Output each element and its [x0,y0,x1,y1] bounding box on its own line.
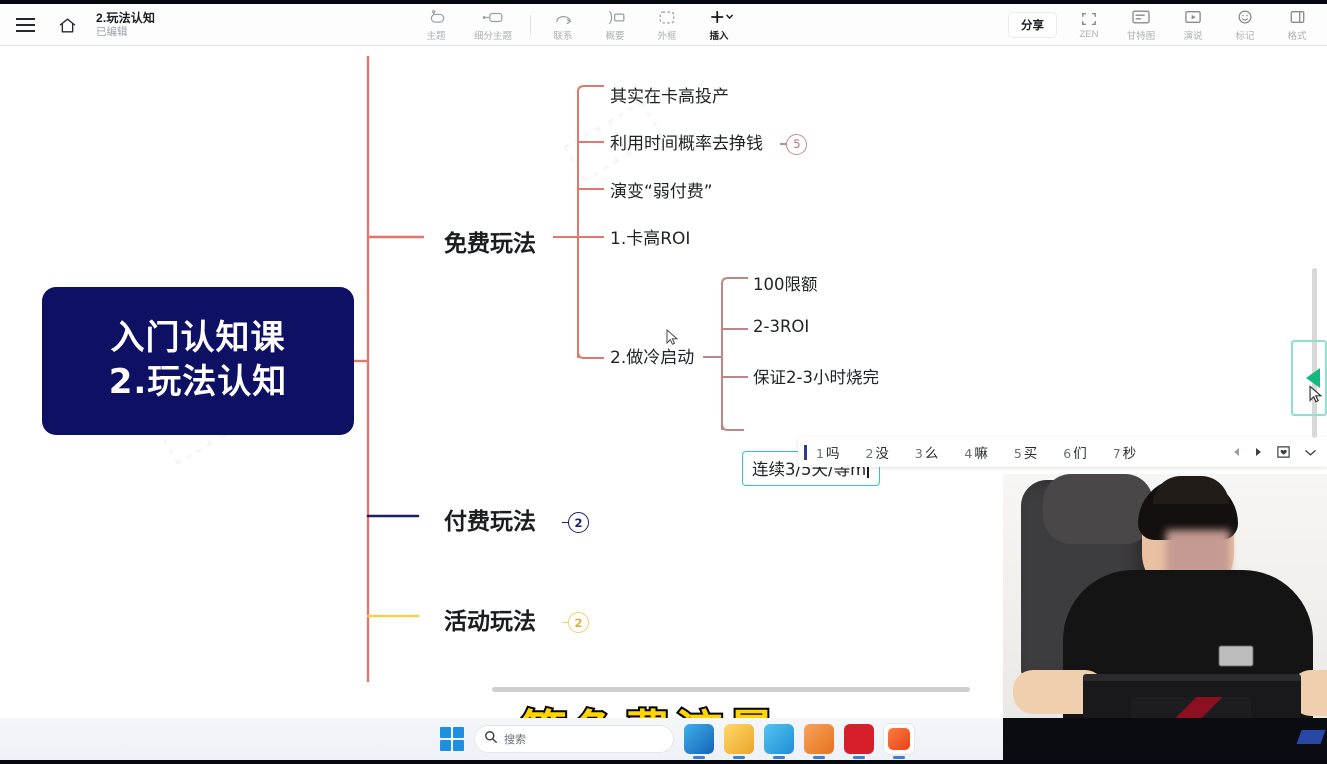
taskbar-app-office[interactable] [804,724,834,754]
node-cold-start[interactable]: 2.做冷启动 [610,343,694,368]
candidate-index: 3 [915,446,923,461]
toolbar-item-boundary[interactable]: 外框 [641,4,693,46]
toolbar-label: 甘特图 [1127,28,1156,42]
toolbar-right-group: 分享 ZEN 甘特图 [1008,4,1323,46]
heart-icon[interactable] [1276,445,1291,459]
ime-candidate-bar[interactable]: 1吗 2没 3么 4嘛 5买 6们 7秒 [798,437,1327,467]
taskbar-app-explorer[interactable] [724,724,754,754]
branch-paid-play[interactable]: 付费玩法 2 [444,502,589,536]
candidate-index: 7 [1113,446,1121,461]
candidate-index: 2 [865,446,873,461]
node-burn-2-3-hours[interactable]: 保证2-3小时烧完 [753,364,879,388]
root-line-2: 2.玩法认知 [109,361,288,405]
ime-controls [1232,445,1327,459]
share-button[interactable]: 分享 [1008,12,1057,38]
hamburger-icon[interactable] [8,4,42,46]
page-title: 2.玩法认知 [96,12,155,25]
taskbar-blue-accent [1296,730,1325,744]
boundary-icon [657,9,677,26]
gantt-chart-icon [1131,9,1151,26]
home-icon[interactable] [52,4,82,46]
node-label: 1.卡高ROI [610,229,690,249]
ime-candidate[interactable]: 4嘛 [964,442,987,462]
screen: 2.玩法认知 已编辑 主题 细分 [0,0,1327,764]
toolbar-item-topic[interactable]: 主题 [410,4,462,46]
toolbar-label: 概要 [605,28,624,42]
horizontal-scrollbar[interactable] [492,687,970,692]
toolbar-label: 格式 [1287,28,1306,42]
toolbar-item-gantt[interactable]: 甘特图 [1115,4,1167,46]
toolbar-item-relation[interactable]: 联系 [537,4,589,46]
node-high-roi[interactable]: 1.卡高ROI [610,224,690,249]
node-roi-2-3[interactable]: 2-3ROI [753,317,809,336]
insert-plus-icon [704,9,734,26]
node-label: 保证2-3小时烧完 [753,368,879,387]
toolbar-left-group: 2.玩法认知 已编辑 [0,4,155,46]
chevron-down-icon[interactable] [1304,448,1317,457]
branch-label: 活动玩法 [444,609,536,635]
search-icon [484,730,498,749]
toolbar-item-marker[interactable]: 标记 [1219,4,1271,46]
ime-candidate[interactable]: 3么 [915,442,938,462]
node-label: 100限额 [753,275,818,294]
candidate-word: 没 [875,446,889,462]
ime-candidate[interactable]: 5买 [1014,442,1037,462]
node-label: 2-3ROI [753,317,809,336]
relation-icon [553,9,574,26]
taskbar-app-chat[interactable] [764,724,794,754]
node-weak-paid[interactable]: 演变“弱付费” [610,177,713,202]
search-input[interactable]: 搜索 [474,725,674,753]
taskbar-items: 搜索 [440,718,914,760]
node-actually-high-roi[interactable]: 其实在卡高投产 [610,82,729,107]
webcam-overlay [1003,474,1327,738]
candidate-word: 买 [1024,446,1038,462]
toolbar-label: 外框 [657,28,676,42]
toolbar-item-subtopic[interactable]: 细分主题 [462,4,524,46]
app-toolbar: 2.玩法认知 已编辑 主题 细分 [0,4,1327,46]
node-label: 2.做冷启动 [610,348,694,368]
toolbar-label: 联系 [553,28,572,42]
bottom-letterbox [0,760,1327,764]
toolbar-label: 标记 [1235,28,1254,42]
toolbar-label: 插入 [709,28,728,42]
toolbar-item-zen[interactable]: ZEN [1063,4,1115,46]
branch-event-play[interactable]: 活动玩法 2 [444,602,589,636]
node-label: 利用时间概率去挣钱 [610,134,763,154]
toolbar-label: ZEN [1080,29,1099,40]
toolbar-item-format[interactable]: 格式 [1271,4,1323,46]
prev-page-arrow-icon[interactable] [1232,447,1241,457]
ime-candidate[interactable]: 1吗 [816,442,839,462]
root-line-1: 入门认知课 [111,317,286,361]
ime-candidate[interactable]: 2没 [865,442,888,462]
chair-headrest [1043,474,1153,544]
node-limit-100[interactable]: 100限额 [753,271,818,295]
save-status: 已编辑 [96,27,155,38]
windows-start-icon[interactable] [440,727,464,751]
branch-free-play[interactable]: 免费玩法 [444,224,536,258]
taskbar-app-edge[interactable] [684,724,714,754]
taskbar-app-feishu[interactable] [844,724,874,754]
ime-indicator [804,445,807,460]
subtopic-icon [481,9,505,26]
format-panel-icon [1288,9,1307,26]
mindmap-root-node[interactable]: 入门认知课 2.玩法认知 [42,287,354,435]
taskbar-app-tool[interactable] [884,724,914,754]
windows-taskbar: 搜索 [0,718,1003,760]
branch-label: 付费玩法 [444,509,536,535]
green-triangle-marker [1306,368,1320,388]
document-title-block[interactable]: 2.玩法认知 已编辑 [96,12,155,39]
topic-icon [426,9,446,26]
next-page-arrow-icon[interactable] [1254,447,1263,457]
candidate-word: 吗 [826,446,840,462]
ime-candidate[interactable]: 6们 [1063,442,1086,462]
status-badge[interactable]: 2 [568,612,589,633]
toolbar-label: 演说 [1183,28,1202,42]
candidate-word: 秒 [1123,446,1137,462]
toolbar-item-summary[interactable]: 概要 [589,4,641,46]
toolbar-label: 主题 [426,28,445,42]
toolbar-center-group: 主题 细分主题 联系 [410,4,745,46]
node-time-probability[interactable]: 利用时间概率去挣钱 5 [610,129,807,155]
toolbar-item-presentation[interactable]: 演说 [1167,4,1219,46]
candidate-index: 4 [964,446,972,461]
status-badge[interactable]: 2 [568,512,589,533]
candidate-index: 6 [1063,446,1071,461]
share-label: 分享 [1021,17,1044,33]
status-badge[interactable]: 5 [786,134,807,155]
summary-icon [605,9,626,26]
candidate-word: 们 [1073,446,1087,462]
presentation-play-icon [1183,9,1203,26]
toolbar-divider [530,15,531,35]
toolbar-label: 细分主题 [474,28,512,42]
shirt-logo [1219,646,1253,666]
candidate-word: 嘛 [974,446,988,462]
toolbar-item-insert[interactable]: 插入 [693,4,745,46]
search-placeholder: 搜索 [504,731,526,747]
candidate-index: 5 [1014,446,1022,461]
candidate-word: 么 [925,446,939,462]
node-label: 其实在卡高投产 [610,87,729,107]
taskbar-right-dark-area [1003,718,1327,764]
ime-candidate[interactable]: 7秒 [1113,442,1136,462]
emoji-marker-icon [1236,9,1254,26]
node-label: 演变“弱付费” [610,182,713,202]
zen-focus-icon [1080,10,1098,27]
branch-label: 免费玩法 [444,231,536,257]
candidate-index: 1 [816,446,824,461]
